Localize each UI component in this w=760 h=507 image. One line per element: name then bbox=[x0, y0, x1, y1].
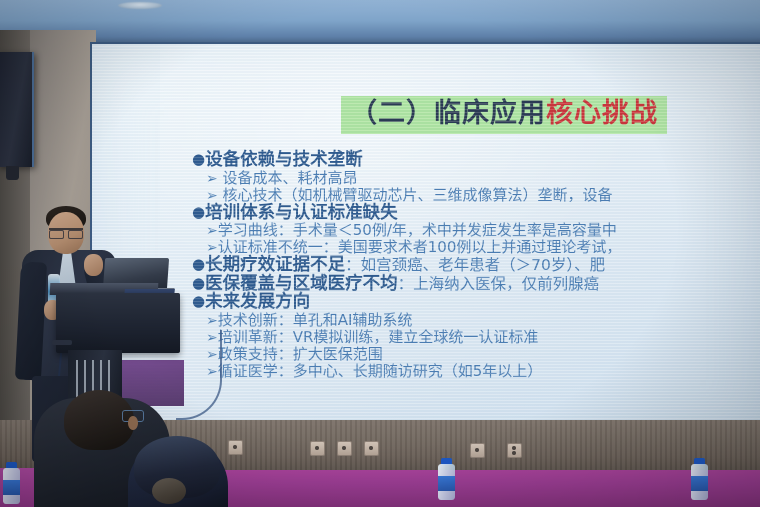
bullet-arrow-icon: ➢ bbox=[206, 313, 218, 329]
bullet-text-tail: ：如宫颈癌、老年患者（＞70岁）、肥 bbox=[345, 256, 605, 274]
slide-title-highlight: （二）临床应用核心挑战 bbox=[341, 96, 667, 134]
bullet-text: 循证医学：多中心、长期随访研究（如5年以上） bbox=[218, 362, 543, 380]
bottle-label bbox=[3, 480, 20, 495]
microphone-stand bbox=[52, 340, 72, 345]
presentation-photo: （二）临床应用核心挑战 ●设备依赖与技术垄断 ➢ 设备成本、耗材高昂 ➢ 核心技… bbox=[0, 0, 760, 507]
glasses-icon bbox=[49, 228, 83, 237]
bullet-text: 长期疗效证据不足 bbox=[205, 255, 345, 275]
podium bbox=[56, 293, 180, 353]
bullet-dot-icon: ● bbox=[192, 150, 205, 168]
bullet-text: 学习曲线：手术量＜50例/年，术中并发症发生率是高容量中 bbox=[218, 221, 617, 239]
bullet-text: 技术创新：单孔和AI辅助系统 bbox=[218, 311, 413, 329]
bullet-text-tail: ：上海纳入医保，仅前列腺癌 bbox=[398, 275, 600, 293]
power-outlet-icon bbox=[337, 441, 352, 456]
bullet-text: 医保覆盖与区域医疗不均 bbox=[205, 274, 398, 294]
slide-body: ●设备依赖与技术垄断 ➢ 设备成本、耗材高昂 ➢ 核心技术（如机械臂驱动芯片、三… bbox=[192, 152, 760, 381]
bullet-text: 设备成本、耗材高昂 bbox=[223, 169, 358, 187]
bullet-arrow-icon: ➢ bbox=[206, 240, 218, 256]
slide-title: （二）临床应用核心挑战 bbox=[341, 96, 667, 134]
bullet-arrow-icon: ➢ bbox=[206, 188, 218, 204]
bottle-label bbox=[438, 476, 455, 491]
power-outlet-icon bbox=[470, 443, 485, 458]
bullet-text: 设备依赖与技术垄断 bbox=[205, 150, 363, 170]
slide-bullet-level1: ●培训体系与认证标准缺失 bbox=[192, 205, 760, 223]
power-outlet-icon bbox=[507, 443, 522, 458]
audience-ear bbox=[128, 416, 138, 430]
bullet-text: 培训革新：VR模拟训练，建立全球统一认证标准 bbox=[218, 328, 539, 346]
slide-title-part-red: 核心挑战 bbox=[546, 98, 658, 129]
water-bottle bbox=[437, 458, 456, 500]
bullet-text: 核心技术（如机械臂驱动芯片、三维成像算法）垄断，设备 bbox=[223, 186, 613, 204]
bullet-dot-icon: ● bbox=[192, 203, 205, 221]
ceiling bbox=[0, 0, 760, 46]
bullet-dot-icon: ● bbox=[192, 274, 205, 292]
slide-bullet-level2: ➢学习曲线：手术量＜50例/年，术中并发症发生率是高容量中 bbox=[206, 223, 760, 238]
slide-bullet-level2: ➢ 核心技术（如机械臂驱动芯片、三维成像算法）垄断，设备 bbox=[206, 188, 760, 203]
bullet-arrow-icon: ➢ bbox=[206, 223, 218, 239]
slide-bullet-level1: ●医保覆盖与区域医疗不均：上海纳入医保，仅前列腺癌 bbox=[192, 276, 760, 294]
bullet-text: 认证标准不统一：美国要求术者100例以上并通过理论考试， bbox=[218, 238, 622, 256]
slide-bullet-level2: ➢循证医学：多中心、长期随访研究（如5年以上） bbox=[206, 364, 760, 379]
audience-hair-bun bbox=[152, 478, 186, 504]
bottle-label bbox=[691, 476, 708, 491]
bullet-text: 政策支持：扩大医保范围 bbox=[218, 345, 383, 363]
bullet-text: 未来发展方向 bbox=[205, 292, 310, 312]
bullet-dot-icon: ● bbox=[192, 292, 205, 310]
speaker-mount bbox=[6, 166, 19, 180]
slide-bullet-level1: ●长期疗效证据不足：如宫颈癌、老年患者（＞70岁）、肥 bbox=[192, 257, 760, 275]
slide-bullet-level2: ➢ 设备成本、耗材高昂 bbox=[206, 171, 760, 186]
slide-bullet-level2: ➢培训革新：VR模拟训练，建立全球统一认证标准 bbox=[206, 330, 760, 345]
wall-speaker bbox=[0, 52, 34, 167]
bullet-dot-icon: ● bbox=[192, 255, 205, 273]
power-outlet-icon bbox=[364, 441, 379, 456]
water-bottle bbox=[2, 462, 21, 504]
power-outlet-icon bbox=[310, 441, 325, 456]
bullet-arrow-icon: ➢ bbox=[206, 171, 218, 187]
slide-bullet-level2: ➢认证标准不统一：美国要求术者100例以上并通过理论考试， bbox=[206, 240, 760, 255]
slide-bullet-level1: ●设备依赖与技术垄断 bbox=[192, 152, 760, 170]
bullet-text: 培训体系与认证标准缺失 bbox=[205, 203, 398, 223]
slide-title-part-dark: （二）临床应用 bbox=[350, 98, 546, 129]
power-outlet-icon bbox=[228, 440, 243, 455]
slide-bullet-level1: ●未来发展方向 bbox=[192, 294, 760, 312]
slide-bullet-level2: ➢技术创新：单孔和AI辅助系统 bbox=[206, 313, 760, 328]
water-bottle bbox=[690, 458, 709, 500]
ceiling-light-icon bbox=[118, 2, 162, 9]
presenter-right-hand bbox=[84, 254, 103, 276]
slide-bullet-level2: ➢政策支持：扩大医保范围 bbox=[206, 347, 760, 362]
